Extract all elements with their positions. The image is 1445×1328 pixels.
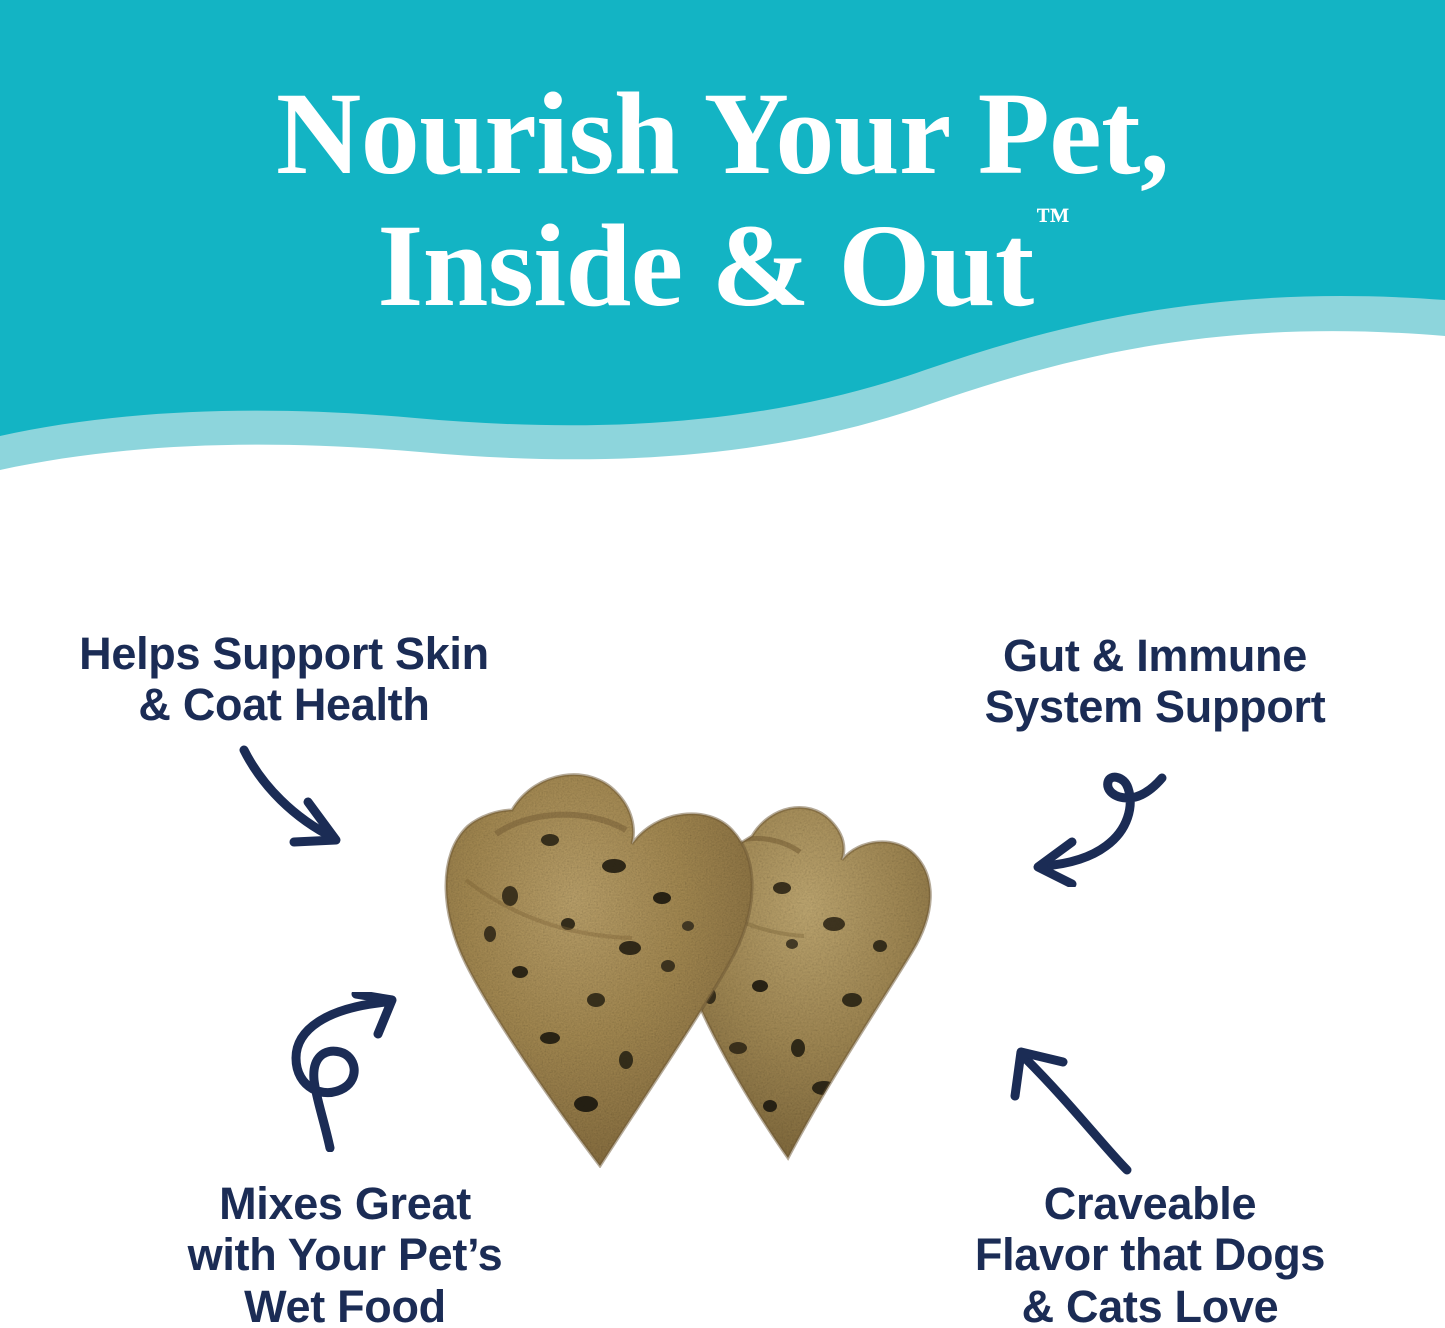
feature-label-skin-coat: Helps Support Skin & Coat Health: [14, 628, 554, 731]
craveable-line-2: Flavor that Dogs: [900, 1229, 1400, 1280]
feature-label-gut-immune: Gut & Immune System Support: [915, 630, 1395, 733]
infographic-page: Nourish Your Pet, Inside & Out™: [0, 0, 1445, 1328]
product-kibble-image: [400, 748, 1030, 1168]
gut-immune-line-1: Gut & Immune: [915, 630, 1395, 681]
feature-label-craveable-flavor: Craveable Flavor that Dogs & Cats Love: [900, 1178, 1400, 1328]
mixes-line-1: Mixes Great: [110, 1178, 580, 1229]
feature-label-mixes-wet-food: Mixes Great with Your Pet’s Wet Food: [110, 1178, 580, 1328]
gut-immune-line-2: System Support: [915, 681, 1395, 732]
banner-wave-graphic: [0, 0, 1445, 480]
craveable-line-1: Craveable: [900, 1178, 1400, 1229]
kibble-heart-left: [446, 775, 752, 1166]
mixes-line-3: Wet Food: [110, 1281, 580, 1328]
wave-dark-shape: [0, 0, 1445, 436]
heart-kibble-illustration: [400, 748, 1030, 1168]
mixes-line-2: with Your Pet’s: [110, 1229, 580, 1280]
craveable-line-3: & Cats Love: [900, 1281, 1400, 1328]
skin-coat-line-2: & Coat Health: [14, 679, 554, 730]
arrow-gut-immune-icon: [1010, 772, 1170, 887]
header-banner: Nourish Your Pet, Inside & Out™: [0, 0, 1445, 480]
arrow-skin-coat-icon: [236, 742, 376, 852]
skin-coat-line-1: Helps Support Skin: [14, 628, 554, 679]
